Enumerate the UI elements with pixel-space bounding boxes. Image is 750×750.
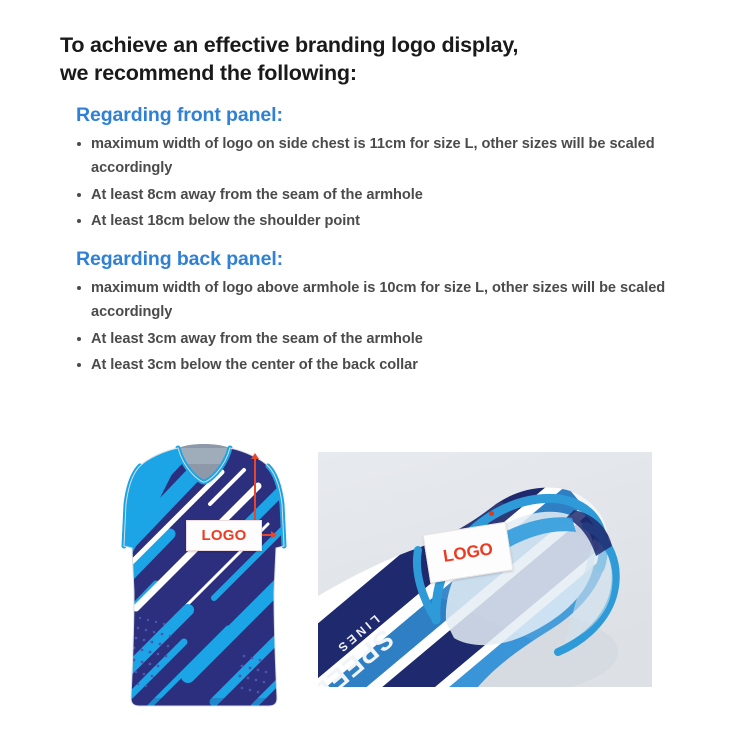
- list-item-text: maximum width of logo above armhole is 1…: [91, 280, 665, 320]
- singlet-vector: [118, 442, 290, 710]
- bullet-dot-icon: [77, 142, 81, 146]
- list-item-text: At least 8cm away from the seam of the a…: [91, 187, 423, 203]
- list-item-text: At least 18cm below the shoulder point: [91, 213, 360, 229]
- bullet-dot-icon: [77, 337, 81, 341]
- list-item-text: At least 3cm away from the seam of the a…: [91, 331, 423, 347]
- list-item: maximum width of logo above armhole is 1…: [76, 277, 720, 324]
- bullet-dot-icon: [77, 219, 81, 223]
- section-heading-front-panel: Regarding front panel:: [76, 104, 720, 127]
- list-item: maximum width of logo on side chest is 1…: [76, 133, 720, 180]
- collar-marker-dot: [489, 511, 494, 516]
- branding-guideline-page: To achieve an effective branding logo di…: [0, 0, 750, 750]
- list-item-text: maximum width of logo on side chest is 1…: [91, 136, 655, 176]
- bullet-dot-icon: [77, 193, 81, 197]
- back-panel-collar-photo: SPEED LINES: [318, 452, 652, 687]
- front-panel-singlet-illustration: LOGO: [118, 442, 290, 710]
- page-title-line-1: To achieve an effective branding logo di…: [60, 32, 720, 60]
- bullet-dot-icon: [77, 363, 81, 367]
- bullet-list-front-panel: maximum width of logo on side chest is 1…: [76, 133, 720, 234]
- logo-placement-tag-front: LOGO: [186, 520, 262, 551]
- logo-tag-label: LOGO: [202, 527, 247, 544]
- list-item: At least 3cm below the center of the bac…: [76, 354, 720, 378]
- figure-row: LOGO: [0, 432, 750, 722]
- shoulder-point-drop-arrow: [254, 456, 256, 528]
- logo-tag-label: LOGO: [442, 539, 495, 567]
- list-item: At least 8cm away from the seam of the a…: [76, 184, 720, 208]
- section-front-panel: Regarding front panel: maximum width of …: [60, 104, 720, 234]
- guideline-copy: To achieve an effective branding logo di…: [60, 32, 720, 392]
- page-title: To achieve an effective branding logo di…: [60, 32, 720, 88]
- list-item: At least 3cm away from the seam of the a…: [76, 328, 720, 352]
- bullet-list-back-panel: maximum width of logo above armhole is 1…: [76, 277, 720, 378]
- bullet-dot-icon: [77, 286, 81, 290]
- list-item: At least 18cm below the shoulder point: [76, 210, 720, 234]
- section-heading-back-panel: Regarding back panel:: [76, 248, 720, 271]
- section-back-panel: Regarding back panel: maximum width of l…: [60, 248, 720, 378]
- list-item-text: At least 3cm below the center of the bac…: [91, 357, 418, 373]
- page-title-line-2: we recommend the following:: [60, 60, 720, 88]
